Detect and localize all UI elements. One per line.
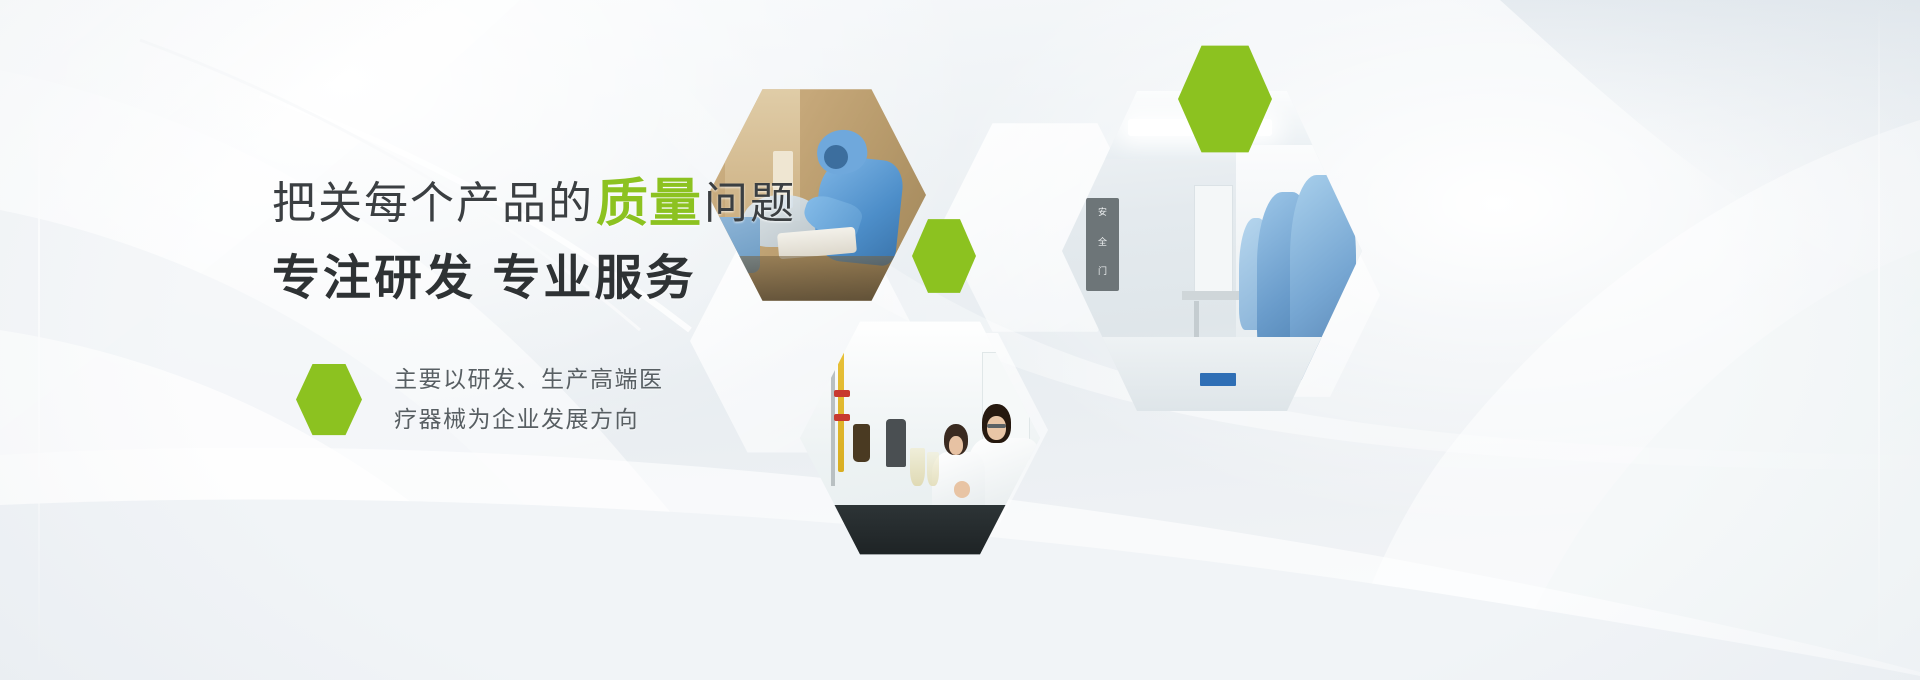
headline-line-1-part-1: 把关每个产品的 bbox=[272, 179, 594, 228]
light-streak-left bbox=[38, 0, 40, 680]
subtitle-line-2: 疗器械为企业发展方向 bbox=[394, 406, 639, 432]
headline-line-2: 专注研发 专业服务 bbox=[272, 253, 796, 306]
hero-copy: 把关每个产品的质量问题 专注研发 专业服务 bbox=[272, 176, 796, 306]
subtitle-text: 主要以研发、生产高端医 疗器械为企业发展方向 bbox=[394, 360, 664, 439]
headline-line-1-part-2: 问题 bbox=[704, 179, 796, 228]
hexagon-icon-bullet bbox=[296, 363, 362, 437]
hero-banner: 安 全 门 bbox=[0, 0, 1920, 680]
subtitle-line-1: 主要以研发、生产高端医 bbox=[394, 366, 664, 392]
headline-accent-quality: 质量 bbox=[596, 175, 702, 233]
light-streak-right bbox=[1878, 0, 1880, 680]
hero-subtitle: 主要以研发、生产高端医 疗器械为企业发展方向 bbox=[296, 360, 664, 439]
headline-line-1: 把关每个产品的质量问题 bbox=[272, 176, 796, 233]
